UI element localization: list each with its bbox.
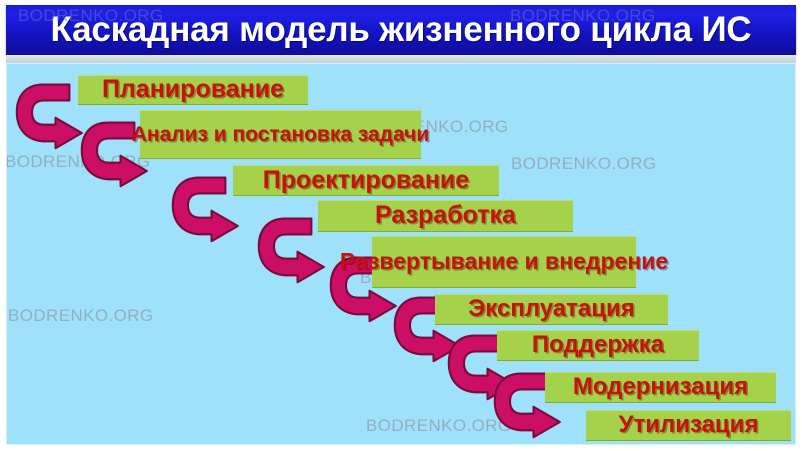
stage-label-4: Разработка	[375, 203, 516, 229]
stage-label-8: Модернизация	[573, 375, 748, 399]
slide-root: Каскадная модель жизненного цикла ИС BOD…	[0, 0, 802, 451]
stage-label-2: Анализ и постановка задачи	[132, 124, 430, 145]
curved-arrow-icon	[259, 219, 324, 283]
stage-label-7: Поддержка	[532, 333, 664, 357]
stage-box-8[interactable]: Модернизация	[545, 372, 776, 403]
stage-label-6: Эксплуатация	[468, 297, 635, 321]
stage-box-5[interactable]: Развертывание и внедрение	[372, 236, 636, 288]
stage-box-1[interactable]: Планирование	[78, 75, 308, 105]
arrow-design-to-development	[170, 172, 242, 244]
watermark: BODRENKO.ORG	[510, 6, 656, 26]
curved-arrow-icon	[17, 85, 82, 149]
stage-box-2[interactable]: Анализ и постановка задачи	[140, 110, 421, 159]
stage-label-5: Развертывание и внедрение	[340, 250, 668, 273]
stage-box-3[interactable]: Проектирование	[233, 165, 499, 196]
stage-label-1: Планирование	[102, 77, 284, 103]
arrow-plan-to-analysis	[14, 79, 86, 151]
curved-arrow-icon	[173, 178, 238, 242]
watermark: BODRENKO.ORG	[511, 154, 657, 174]
watermark: BODRENKO.ORG	[366, 416, 512, 436]
watermark: BODRENKO.ORG	[8, 306, 154, 326]
stage-label-3: Проектирование	[263, 168, 469, 194]
stage-box-6[interactable]: Эксплуатация	[435, 294, 668, 325]
watermark: BODRENKO.ORG	[18, 6, 164, 26]
stage-box-9[interactable]: Утилизация	[586, 410, 791, 441]
stage-label-9: Утилизация	[619, 413, 759, 437]
stage-box-4[interactable]: Разработка	[318, 200, 573, 232]
stage-box-7[interactable]: Поддержка	[497, 330, 699, 361]
